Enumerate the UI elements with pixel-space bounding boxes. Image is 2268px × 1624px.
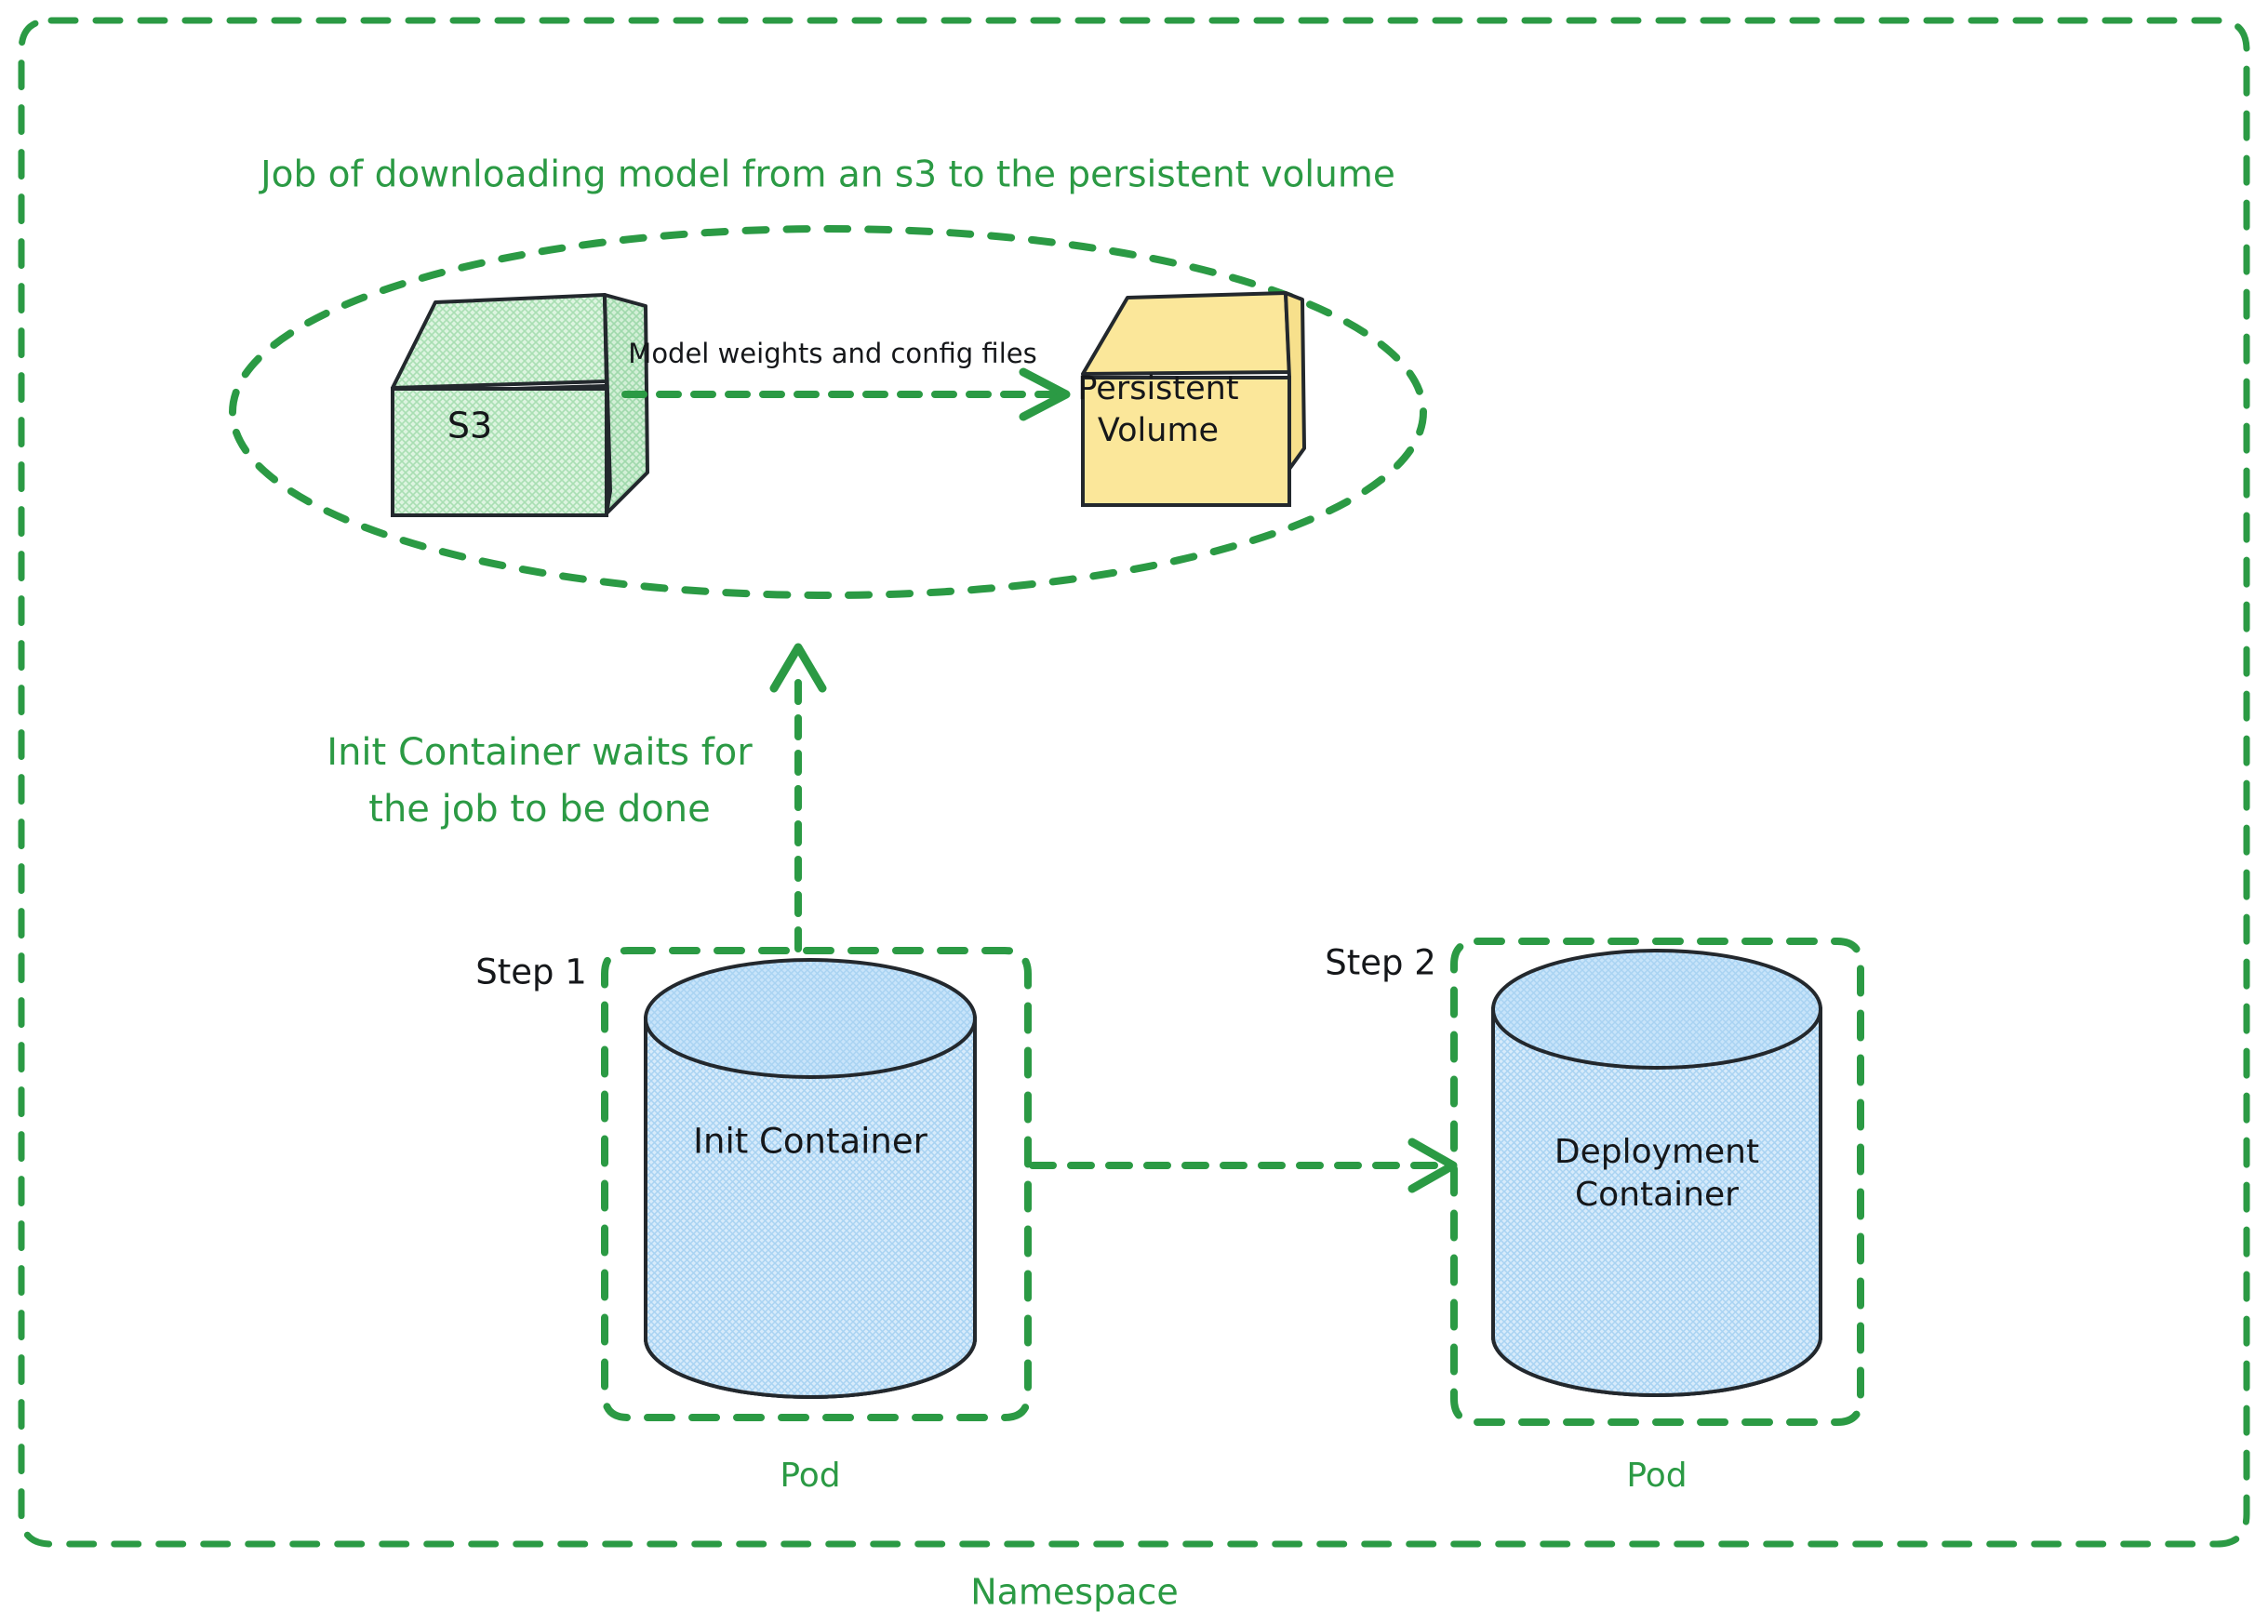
deployment-container-label-line2: Container xyxy=(1575,1176,1739,1214)
init-wait-note-line1: Init Container waits for xyxy=(327,731,753,774)
step-1-label: Step 1 xyxy=(475,952,587,992)
init-container-label: Init Container xyxy=(693,1122,928,1162)
step-2-label: Step 2 xyxy=(1325,943,1436,983)
job-edge-label: Model weights and config files xyxy=(628,338,1036,369)
persistent-volume-label-line1: Persistent xyxy=(1077,370,1238,407)
namespace-label: Namespace xyxy=(970,1572,1179,1613)
pod-2-label: Pod xyxy=(1626,1457,1687,1495)
persistent-volume-label-line2: Volume xyxy=(1098,412,1219,449)
diagram-labels: Job of downloading model from an s3 to t… xyxy=(0,0,2268,1624)
init-wait-note-line2: the job to be done xyxy=(368,788,710,831)
job-title-note: Job of downloading model from an s3 to t… xyxy=(258,154,1395,196)
s3-label: S3 xyxy=(447,406,492,446)
deployment-container-label-line1: Deployment xyxy=(1554,1133,1759,1171)
pod-1-label: Pod xyxy=(780,1457,840,1495)
diagram-canvas: Job of downloading model from an s3 to t… xyxy=(0,0,2268,1624)
